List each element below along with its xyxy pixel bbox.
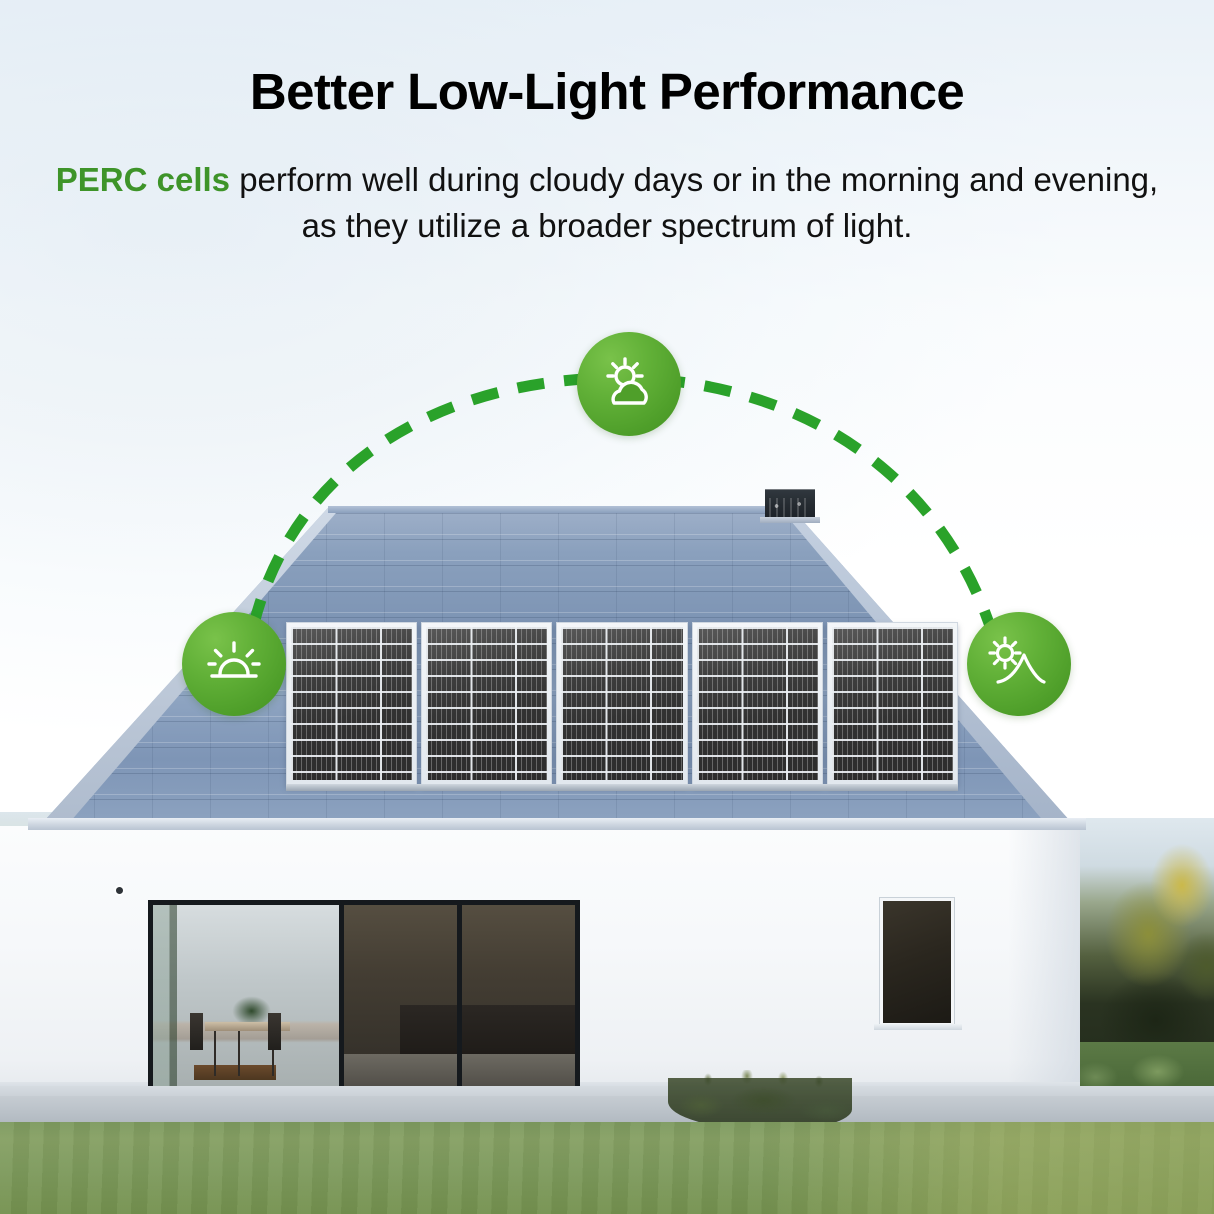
small-window-sill [874,1024,962,1030]
sunrise-icon[interactable] [182,612,286,716]
roof-eave [28,818,1086,830]
page-title: Better Low-Light Performance [0,62,1214,121]
sliding-glass-door [148,900,580,1096]
promo-banner: Better Low-Light Performance PERC cells … [0,0,1214,1214]
roof-ridge [328,506,786,513]
solar-panel [827,622,958,786]
lawn-highlight [760,1122,1214,1214]
page-subtitle: PERC cells perform well during cloudy da… [50,157,1164,248]
small-window [880,898,954,1026]
interior-chair [190,1013,203,1050]
subtitle-highlight: PERC cells [56,161,230,198]
solar-panel-array [286,622,958,786]
wall-shadow [1008,826,1080,1098]
door-mullion [339,905,344,1091]
sunset-over-hill-icon[interactable] [967,612,1071,716]
subtitle-rest: perform well during cloudy days or in th… [230,161,1158,244]
exterior-light-icon [116,887,123,894]
door-mullion [457,905,462,1091]
interior-chair [268,1013,281,1050]
solar-panel [286,622,417,786]
interior-rug [194,1065,276,1080]
door-pane-left [153,905,339,1091]
interior-view [153,905,339,1091]
sun-behind-cloud-icon[interactable] [577,332,681,436]
table-leg [238,1031,240,1076]
solar-panel [556,622,687,786]
panel-mounting-rail [286,784,958,791]
chimney-base [760,517,820,523]
table-leg [214,1031,216,1076]
solar-panel [692,622,823,786]
solar-panel [421,622,552,786]
